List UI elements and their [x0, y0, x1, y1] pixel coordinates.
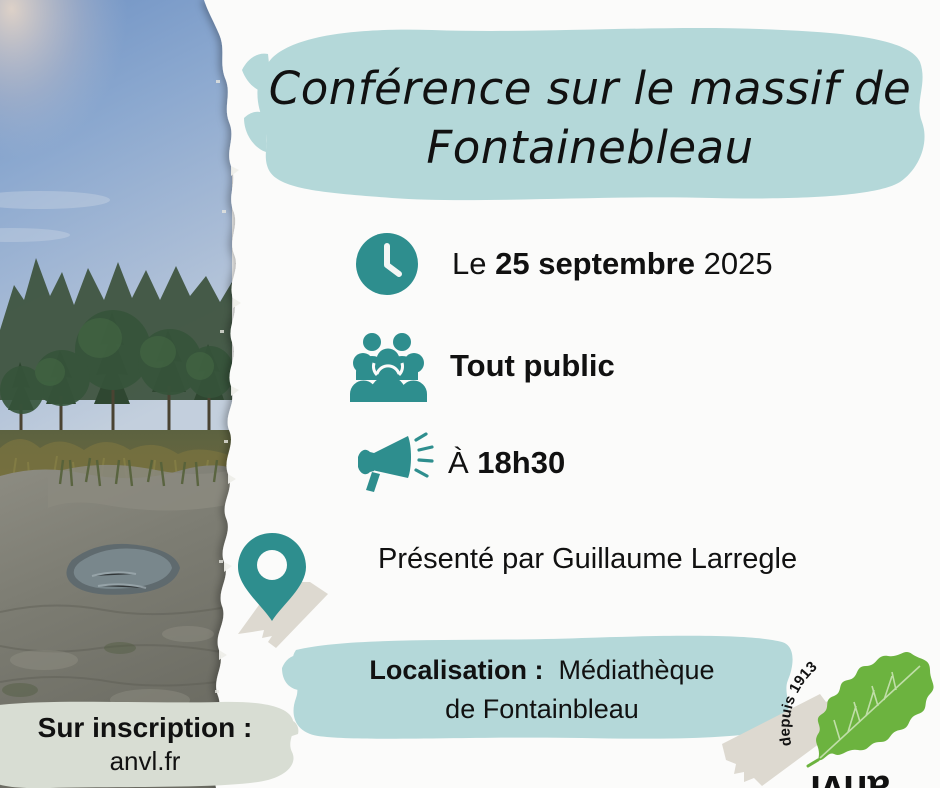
map-pin-icon [236, 531, 308, 623]
registration-label: Sur inscription : [38, 712, 253, 744]
logo-tagline: depuis 1913 [778, 658, 820, 747]
people-group-icon [350, 330, 428, 402]
location-line-2: de Fontainbleau [445, 690, 639, 729]
time-text: À 18h30 [448, 445, 565, 481]
event-poster: Conférence sur le massif de Fontaineblea… [0, 0, 940, 788]
time-strong: 18h30 [477, 445, 565, 480]
date-strong: 25 septembre [495, 246, 695, 281]
date-suffix: 2025 [695, 246, 773, 281]
svg-text:depuis 1913: depuis 1913 [778, 658, 820, 747]
location-value-1 [543, 655, 558, 685]
date-text: Le 25 septembre 2025 [452, 246, 773, 282]
title-line-2: Fontainebleau [426, 118, 753, 177]
audience-text: Tout public [450, 348, 615, 384]
logo-wordmark: anvl [810, 767, 890, 788]
location-line-1: Localisation : Médiathèque [369, 651, 714, 690]
time-prefix: À [448, 445, 477, 480]
date-row: Le 25 septembre 2025 [356, 233, 773, 295]
location-venue: Médiathèque [558, 655, 714, 685]
registration-url[interactable]: anvl.fr [110, 746, 181, 777]
date-prefix: Le [452, 246, 495, 281]
presenter-text: Présenté par Guillaume Larregle [378, 543, 797, 576]
oak-leaf-icon [808, 652, 934, 766]
location-label: Localisation : [369, 655, 543, 685]
audience-row: Tout public [350, 330, 615, 402]
registration-text: Sur inscription : anvl.fr [0, 702, 290, 786]
megaphone-icon [348, 430, 434, 496]
poster-title: Conférence sur le massif de Fontaineblea… [250, 28, 930, 208]
anvl-logo[interactable]: depuis 1913 anvl [778, 636, 940, 788]
time-row: À 18h30 [348, 430, 565, 496]
title-line-1: Conférence sur le massif de [269, 59, 911, 118]
clock-icon [356, 233, 418, 295]
location-text: Localisation : Médiathèque de Fontainble… [292, 640, 792, 740]
